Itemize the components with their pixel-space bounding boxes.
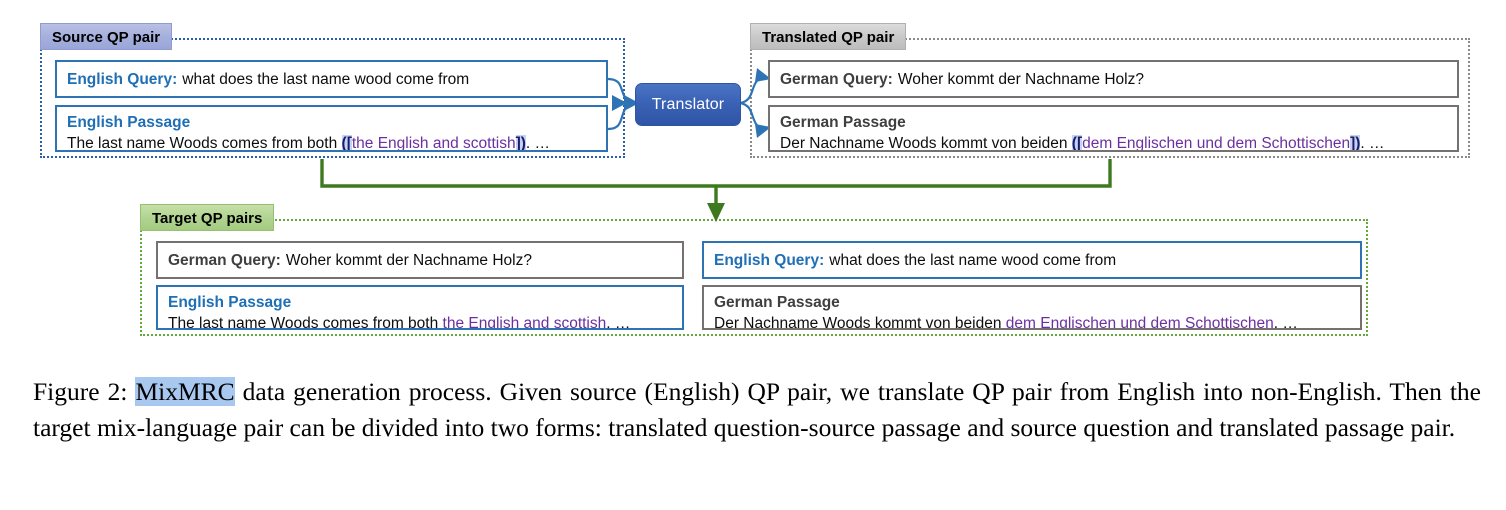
source-passage-box: English Passage The last name Woods come… — [55, 105, 608, 152]
source-query-label: English Query: — [67, 69, 177, 90]
caption-rest: data generation process. Given source (E… — [33, 377, 1481, 442]
source-passage-bracket-close: ]) — [516, 135, 526, 152]
source-query-box: English Query: what does the last name w… — [55, 60, 608, 98]
source-passage-prefix: The last name Woods comes from both — [67, 135, 342, 152]
translated-passage-bracket-close: ]) — [1350, 135, 1360, 152]
translated-passage-label: German Passage — [780, 112, 1447, 133]
target-left-passage-prefix: The last name Woods comes from both — [168, 315, 443, 330]
source-passage-text: The last name Woods comes from both ([th… — [67, 133, 596, 152]
target-right-passage-highlight: dem Englischen und dem Schottischen — [1006, 315, 1274, 330]
target-left-passage-label: English Passage — [168, 292, 672, 313]
target-left-passage-text: The last name Woods comes from both the … — [168, 313, 672, 330]
target-right-passage-box: German Passage Der Nachname Woods kommt … — [702, 285, 1362, 330]
translated-passage-text: Der Nachname Woods kommt von beiden ([de… — [780, 133, 1447, 152]
translated-passage-suffix: . … — [1360, 135, 1384, 152]
source-passage-suffix: . … — [526, 135, 550, 152]
caption-prefix: Figure 2: — [33, 377, 135, 406]
target-left-passage-box: English Passage The last name Woods come… — [156, 285, 684, 330]
translator-label: Translator — [652, 96, 724, 114]
translator-node: Translator — [635, 83, 741, 126]
source-passage-highlight: the English and scottish — [352, 135, 516, 152]
target-right-passage-label: German Passage — [714, 292, 1350, 313]
target-right-query-text: what does the last name wood come from — [829, 250, 1116, 271]
figure-diagram: Source QP pair Translated QP pair Target… — [0, 0, 1506, 370]
target-right-query-label: English Query: — [714, 250, 824, 271]
caption-marked-term: MixMRC — [135, 377, 234, 406]
target-left-passage-highlight: the English and scottish — [443, 315, 607, 330]
translated-passage-prefix: Der Nachname Woods kommt von beiden — [780, 135, 1072, 152]
translated-query-box: German Query: Woher kommt der Nachname H… — [768, 60, 1459, 98]
translated-passage-highlight: dem Englischen und dem Schottischen — [1082, 135, 1350, 152]
source-passage-bracket-open: ([ — [342, 135, 352, 152]
group-title-translated: Translated QP pair — [750, 23, 906, 50]
target-right-query-box: English Query: what does the last name w… — [702, 241, 1362, 279]
source-query-text: what does the last name wood come from — [182, 69, 469, 90]
source-passage-label: English Passage — [67, 112, 596, 133]
target-left-query-box: German Query: Woher kommt der Nachname H… — [156, 241, 684, 279]
group-title-source: Source QP pair — [40, 23, 172, 50]
target-left-query-label: German Query: — [168, 250, 281, 271]
translated-passage-bracket-open: ([ — [1072, 135, 1082, 152]
translated-query-label: German Query: — [780, 69, 893, 90]
target-right-passage-prefix: Der Nachname Woods kommt von beiden — [714, 315, 1006, 330]
translated-query-text: Woher kommt der Nachname Holz? — [898, 69, 1144, 90]
target-left-query-text: Woher kommt der Nachname Holz? — [286, 250, 532, 271]
target-right-passage-suffix: . … — [1274, 315, 1298, 330]
figure-caption: Figure 2: MixMRC data generation process… — [33, 374, 1481, 446]
group-title-target: Target QP pairs — [140, 204, 274, 231]
translated-passage-box: German Passage Der Nachname Woods kommt … — [768, 105, 1459, 152]
target-right-passage-text: Der Nachname Woods kommt von beiden dem … — [714, 313, 1350, 330]
target-left-passage-suffix: . … — [606, 315, 630, 330]
